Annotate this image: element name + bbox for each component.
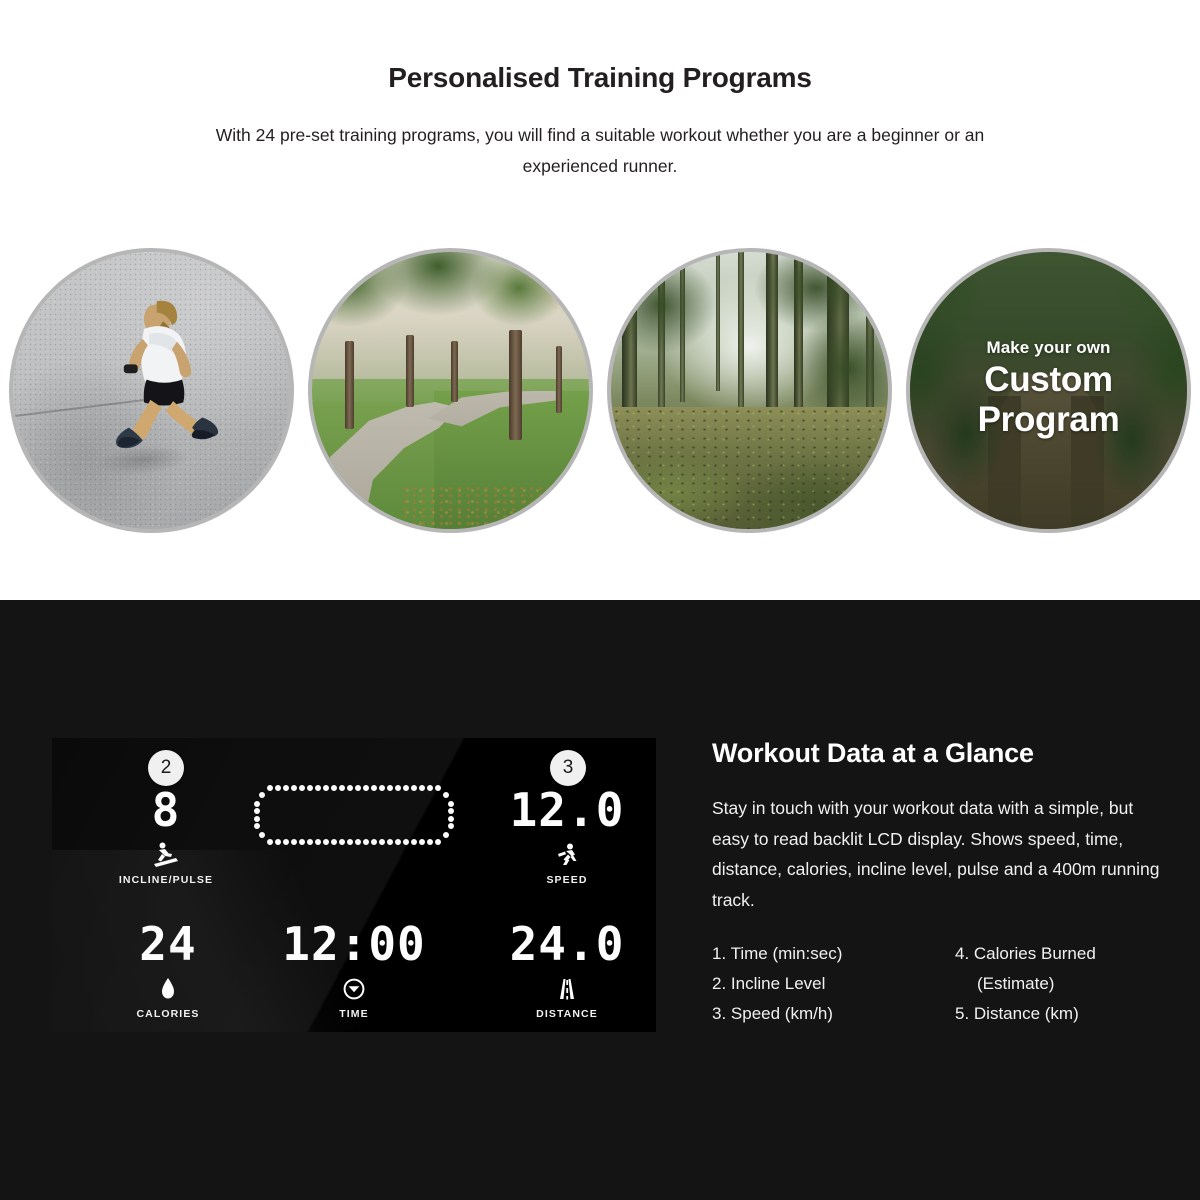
track-dot (427, 785, 433, 791)
running-track-dot-matrix-icon (256, 784, 452, 846)
lcd-legend-column-left: 1. Time (min:sec) 2. Incline Level 3. Sp… (712, 939, 955, 1029)
time-label: TIME (274, 1008, 434, 1020)
track-dot (363, 785, 369, 791)
workout-info-title: Workout Data at a Glance (712, 738, 1164, 769)
incline-label: INCLINE/PULSE (86, 874, 246, 886)
track-dot (347, 785, 353, 791)
lcd-legend: 1. Time (min:sec) 2. Incline Level 3. Sp… (712, 939, 1164, 1029)
track-dot (363, 839, 369, 845)
track-dot (411, 785, 417, 791)
incline-figure-icon (86, 840, 246, 870)
legend-item: 4. Calories Burned (955, 939, 1164, 969)
page-subtitle: With 24 pre-set training programs, you w… (200, 120, 1000, 182)
track-dot (315, 785, 321, 791)
track-dot (275, 785, 281, 791)
forest-trunk (716, 252, 720, 391)
track-dot (259, 792, 265, 798)
track-dot (448, 816, 454, 822)
forest-floor-texture (611, 407, 888, 529)
custom-program-line1: Make your own (986, 338, 1110, 358)
asphalt-surface (13, 252, 290, 529)
track-dot (307, 785, 313, 791)
runner-figure-icon (93, 296, 220, 473)
track-dot (395, 785, 401, 791)
speed-value: 12.0 (492, 786, 642, 834)
program-circle-park-pathway[interactable] (308, 248, 593, 533)
track-dot (323, 839, 329, 845)
track-dot (315, 839, 321, 845)
track-dot (254, 801, 260, 807)
forest-trunk (738, 252, 744, 407)
track-dot (259, 832, 265, 838)
track-dot (419, 839, 425, 845)
lcd-cell-calories: 24 CALORIES (88, 920, 248, 1020)
park-scene (312, 252, 589, 529)
workout-data-section: 8 INCLINE/PULSE 2 12.0 (0, 600, 1200, 1200)
track-dot (379, 839, 385, 845)
track-dot (448, 823, 454, 829)
distance-value: 24.0 (492, 920, 642, 968)
training-programs-section: Personalised Training Programs With 24 p… (0, 0, 1200, 600)
track-dot (371, 839, 377, 845)
custom-program-caption: Make your own Custom Program (910, 252, 1187, 529)
track-dot (291, 785, 297, 791)
track-dot (299, 839, 305, 845)
program-circle-custom-program[interactable]: Make your own Custom Program (906, 248, 1191, 533)
page-title: Personalised Training Programs (0, 62, 1200, 94)
calories-label: CALORIES (88, 1008, 248, 1020)
running-figure-icon (492, 840, 642, 870)
lcd-cell-speed: 12.0 SPEED (492, 786, 642, 886)
track-dot (355, 839, 361, 845)
road-icon (492, 974, 642, 1004)
lcd-cell-time: 12:00 TIME (274, 920, 434, 1020)
legend-item: 2. Incline Level (712, 969, 955, 999)
track-dot (291, 839, 297, 845)
speed-label: SPEED (492, 874, 642, 886)
track-dot (443, 792, 449, 798)
track-dot (371, 785, 377, 791)
track-dot (275, 839, 281, 845)
track-dot (403, 785, 409, 791)
track-dot (427, 839, 433, 845)
track-dot (435, 785, 441, 791)
track-dot (339, 785, 345, 791)
clock-icon (274, 974, 434, 1004)
track-dot (387, 839, 393, 845)
track-dot (331, 785, 337, 791)
workout-info-body: Stay in touch with your workout data wit… (712, 793, 1164, 915)
lcd-legend-column-right: 4. Calories Burned (Estimate) 5. Distanc… (955, 939, 1164, 1029)
track-dot (379, 785, 385, 791)
marketing-page: Personalised Training Programs With 24 p… (0, 0, 1200, 1200)
forest-scene (611, 252, 888, 529)
incline-value: 8 (86, 786, 246, 834)
track-dot (299, 785, 305, 791)
legend-item: 1. Time (min:sec) (712, 939, 955, 969)
track-dot (331, 839, 337, 845)
program-circle-runner-on-road[interactable] (9, 248, 294, 533)
calories-value: 24 (88, 920, 248, 968)
track-dot (254, 816, 260, 822)
lcd-cell-incline-pulse: 8 INCLINE/PULSE (86, 786, 246, 886)
track-dot (435, 839, 441, 845)
track-dot (443, 832, 449, 838)
callout-badge-2: 2 (148, 750, 184, 786)
callout-badge-3: 3 (550, 750, 586, 786)
program-image-row: Make your own Custom Program (0, 248, 1200, 533)
distance-label: DISTANCE (492, 1008, 642, 1020)
track-dot (387, 785, 393, 791)
track-dot (283, 785, 289, 791)
track-dot (403, 839, 409, 845)
track-dot (411, 839, 417, 845)
track-dot (254, 823, 260, 829)
track-dot (323, 785, 329, 791)
track-dot (448, 801, 454, 807)
track-dot (254, 808, 260, 814)
forest-floor (611, 407, 888, 529)
legend-item: (Estimate) (955, 969, 1164, 999)
park-tree-canopy (308, 248, 593, 379)
time-value: 12:00 (274, 920, 434, 968)
track-dot (283, 839, 289, 845)
track-dot (355, 785, 361, 791)
flame-drop-icon (88, 974, 248, 1004)
legend-item: 3. Speed (km/h) (712, 999, 955, 1029)
legend-item: 5. Distance (km) (955, 999, 1164, 1029)
program-circle-misty-forest[interactable] (607, 248, 892, 533)
custom-program-line2: Custom (984, 360, 1112, 400)
lcd-console-display[interactable]: 8 INCLINE/PULSE 2 12.0 (52, 738, 656, 1032)
track-dot (307, 839, 313, 845)
track-dot (347, 839, 353, 845)
track-dot (267, 839, 273, 845)
conifer-foliage (607, 258, 716, 352)
track-dot (339, 839, 345, 845)
track-dot (419, 785, 425, 791)
lcd-cell-distance: 24.0 DISTANCE (492, 920, 642, 1020)
track-dot (448, 808, 454, 814)
dirt-road-scene: Make your own Custom Program (910, 252, 1187, 529)
track-dot (267, 785, 273, 791)
custom-program-line3: Program (978, 400, 1120, 440)
fallen-leaves (401, 485, 567, 529)
workout-info-column: Workout Data at a Glance Stay in touch w… (712, 738, 1164, 1029)
track-dot (395, 839, 401, 845)
